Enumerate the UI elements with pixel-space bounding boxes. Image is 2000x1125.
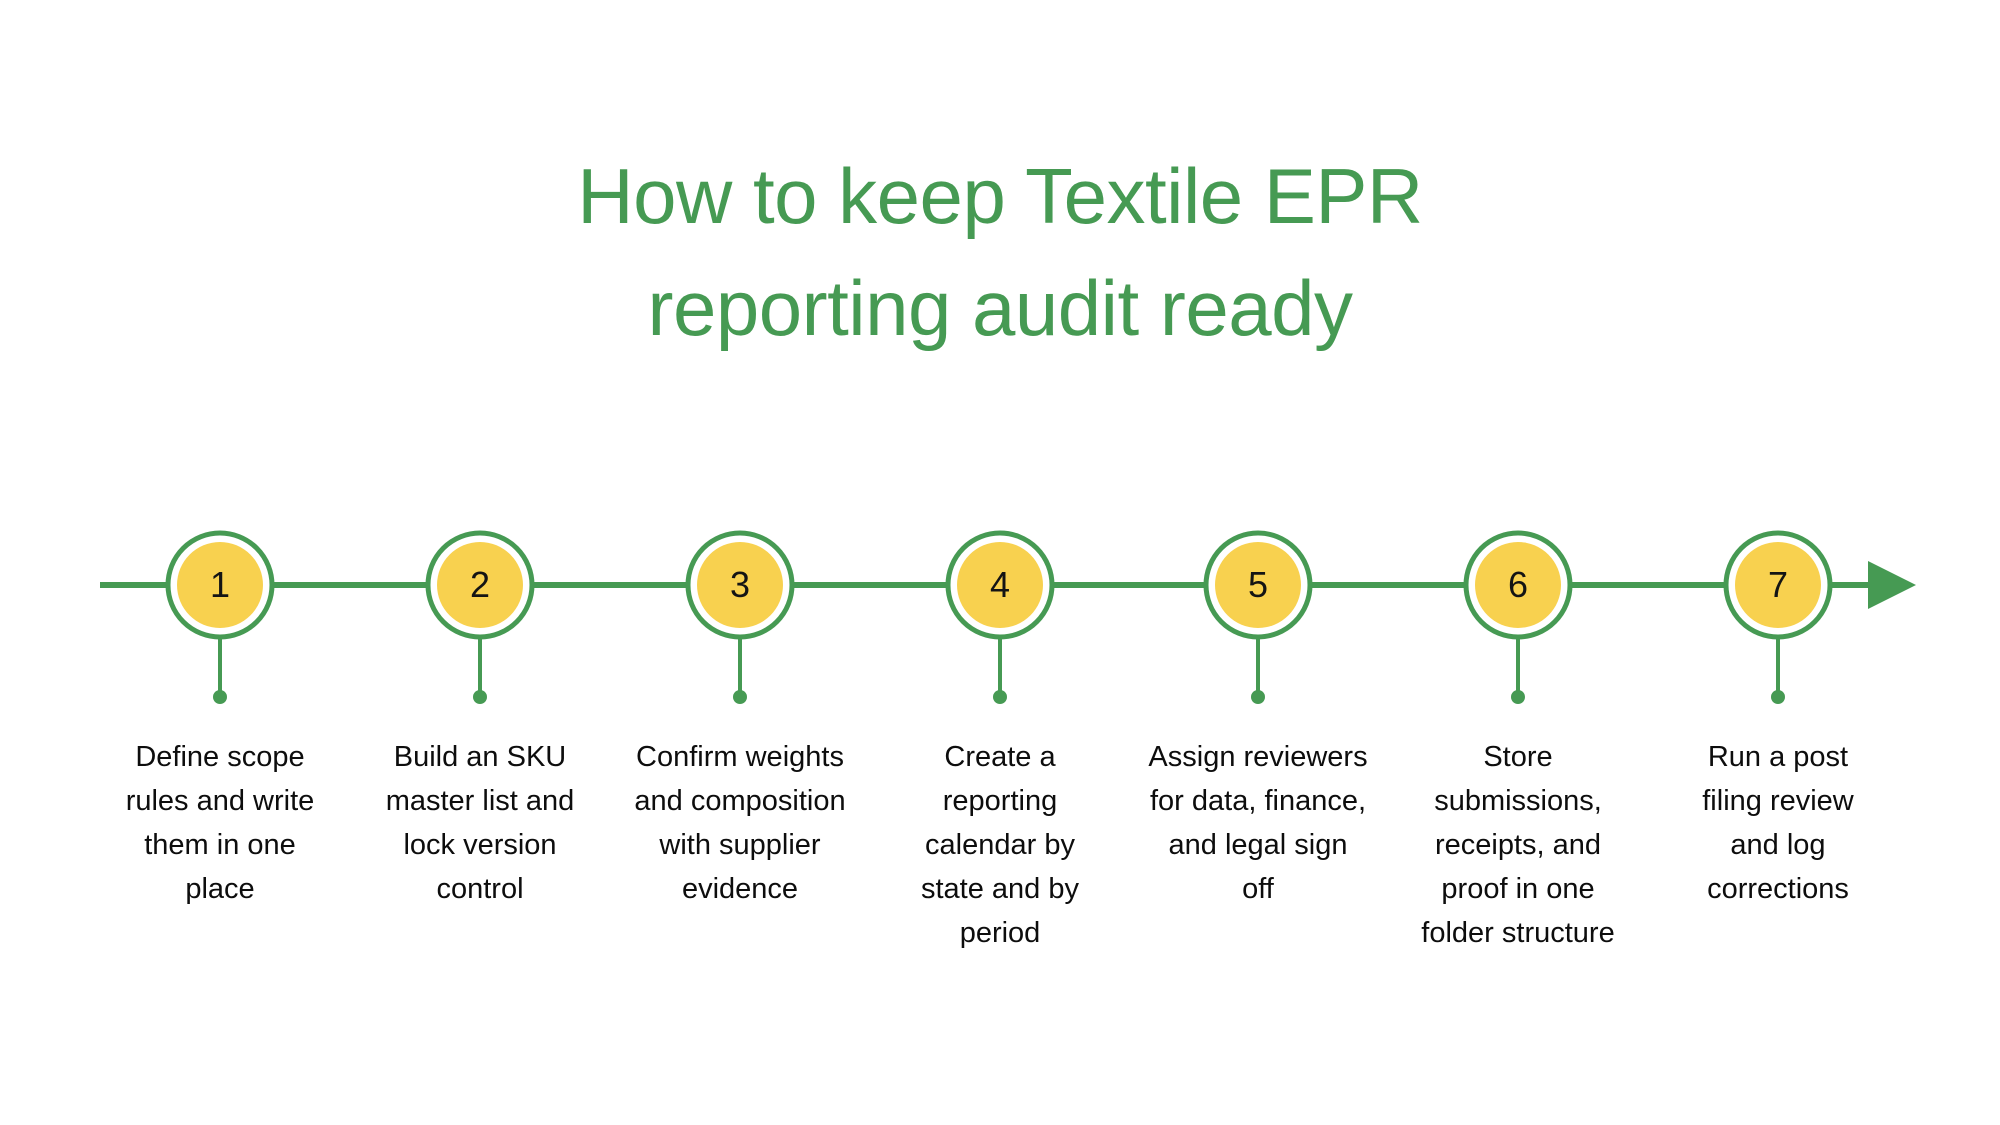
- infographic-canvas: How to keep Textile EPR reporting audit …: [0, 0, 2000, 1125]
- node-number-6: 6: [1464, 531, 1572, 639]
- step-caption-1: Define scope rules and write them in one…: [90, 735, 350, 911]
- node-number-1: 1: [166, 531, 274, 639]
- step-caption-6: Store submissions, receipts, and proof i…: [1388, 735, 1648, 955]
- node-number-7: 7: [1724, 531, 1832, 639]
- node-number-2: 2: [426, 531, 534, 639]
- node-stem-dot-1: [213, 690, 227, 704]
- step-caption-3: Confirm weights and composition with sup…: [610, 735, 870, 911]
- node-stem-dot-5: [1251, 690, 1265, 704]
- node-stem-dot-3: [733, 690, 747, 704]
- node-stem-dot-7: [1771, 690, 1785, 704]
- step-caption-2: Build an SKU master list and lock versio…: [350, 735, 610, 911]
- node-stem-dot-6: [1511, 690, 1525, 704]
- node-number-5: 5: [1204, 531, 1312, 639]
- node-number-3: 3: [686, 531, 794, 639]
- node-stem-dot-4: [993, 690, 1007, 704]
- step-caption-5: Assign reviewers for data, finance, and …: [1128, 735, 1388, 911]
- step-caption-7: Run a post filing review and log correct…: [1648, 735, 1908, 911]
- node-stem-dot-2: [473, 690, 487, 704]
- node-number-4: 4: [946, 531, 1054, 639]
- step-caption-4: Create a reporting calendar by state and…: [870, 735, 1130, 955]
